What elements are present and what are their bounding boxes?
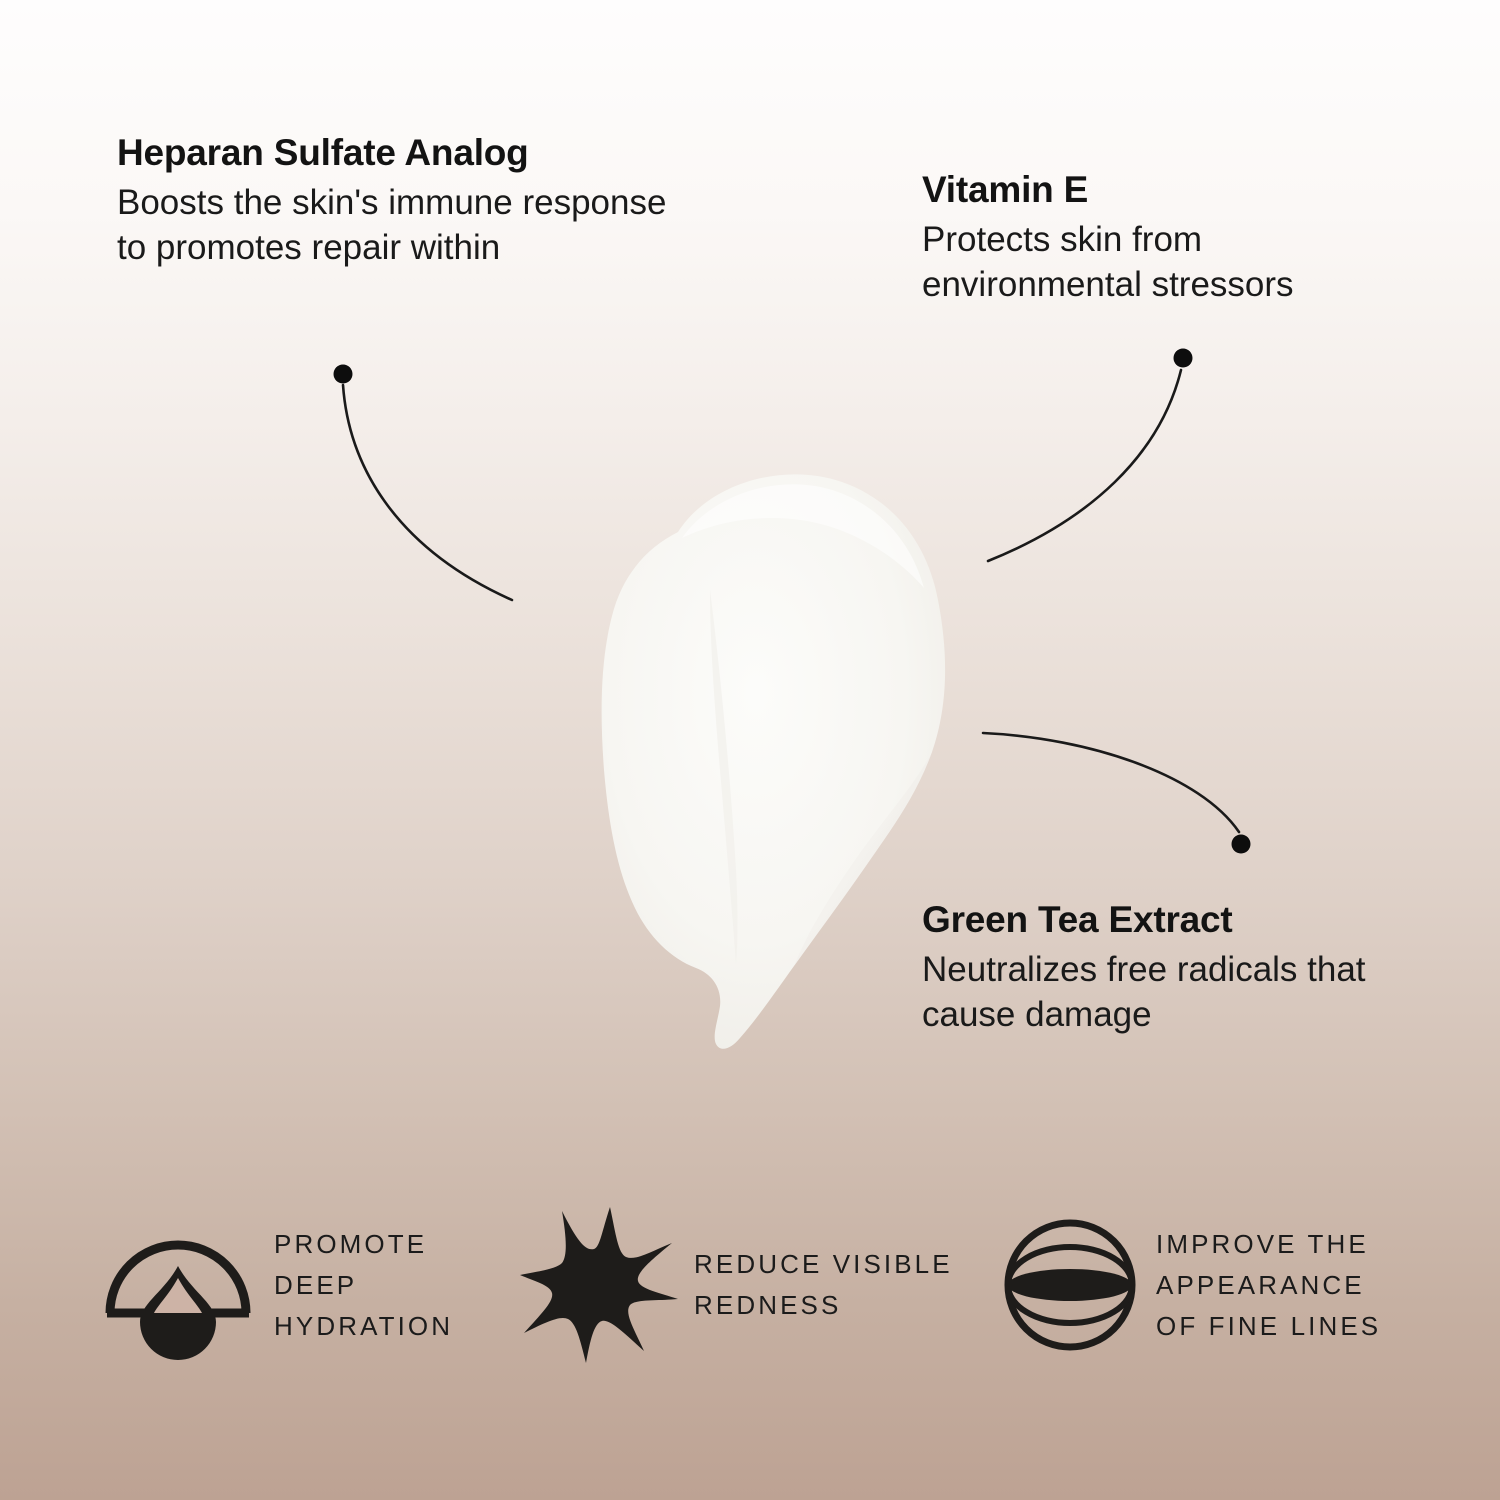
connector-line-vitamin-e [988,370,1181,561]
connector-dot-vitamin-e [1174,349,1193,368]
cream-swatch-body [602,474,945,1048]
callout-description: Neutralizes free radicals that cause dam… [922,947,1422,1038]
starburst-icon [520,1205,680,1365]
starburst-shape [520,1207,678,1363]
connector-dot-green-tea [1232,835,1251,854]
benefits-row: PROMOTE DEEP HYDRATION REDUCE VISIBLE RE… [0,1195,1500,1375]
connector-line-heparan [343,385,512,600]
sphere-lines-icon [1000,1205,1140,1365]
hydration-droplet-icon [100,1205,256,1365]
callout-title: Vitamin E [922,168,1422,212]
fine-line-lower [1008,1269,1132,1301]
connector-line-green-tea [983,733,1239,832]
callout-heparan-sulfate-analog: Heparan Sulfate Analog Boosts the skin's… [117,131,697,271]
benefit-label: PROMOTE DEEP HYDRATION [274,1224,453,1347]
benefit-improve-appearance-of-fine-lines: IMPROVE THE APPEARANCE OF FINE LINES [1000,1195,1381,1375]
cream-swatch-icon [560,440,980,1060]
benefit-reduce-visible-redness: REDUCE VISIBLE REDNESS [520,1195,953,1375]
connector-dot-heparan [334,365,353,384]
callout-description: Boosts the skin's immune response to pro… [117,180,697,271]
callout-description: Protects skin from environmental stresso… [922,217,1422,308]
callout-green-tea-extract: Green Tea Extract Neutralizes free radic… [922,898,1422,1038]
benefit-label: IMPROVE THE APPEARANCE OF FINE LINES [1156,1224,1381,1347]
callout-title: Heparan Sulfate Analog [117,131,697,175]
callout-vitamin-e: Vitamin E Protects skin from environment… [922,168,1422,308]
ingredient-infographic: Heparan Sulfate Analog Boosts the skin's… [0,0,1500,1500]
benefit-promote-deep-hydration: PROMOTE DEEP HYDRATION [100,1195,453,1375]
benefit-label: REDUCE VISIBLE REDNESS [694,1244,953,1326]
callout-title: Green Tea Extract [922,898,1422,942]
